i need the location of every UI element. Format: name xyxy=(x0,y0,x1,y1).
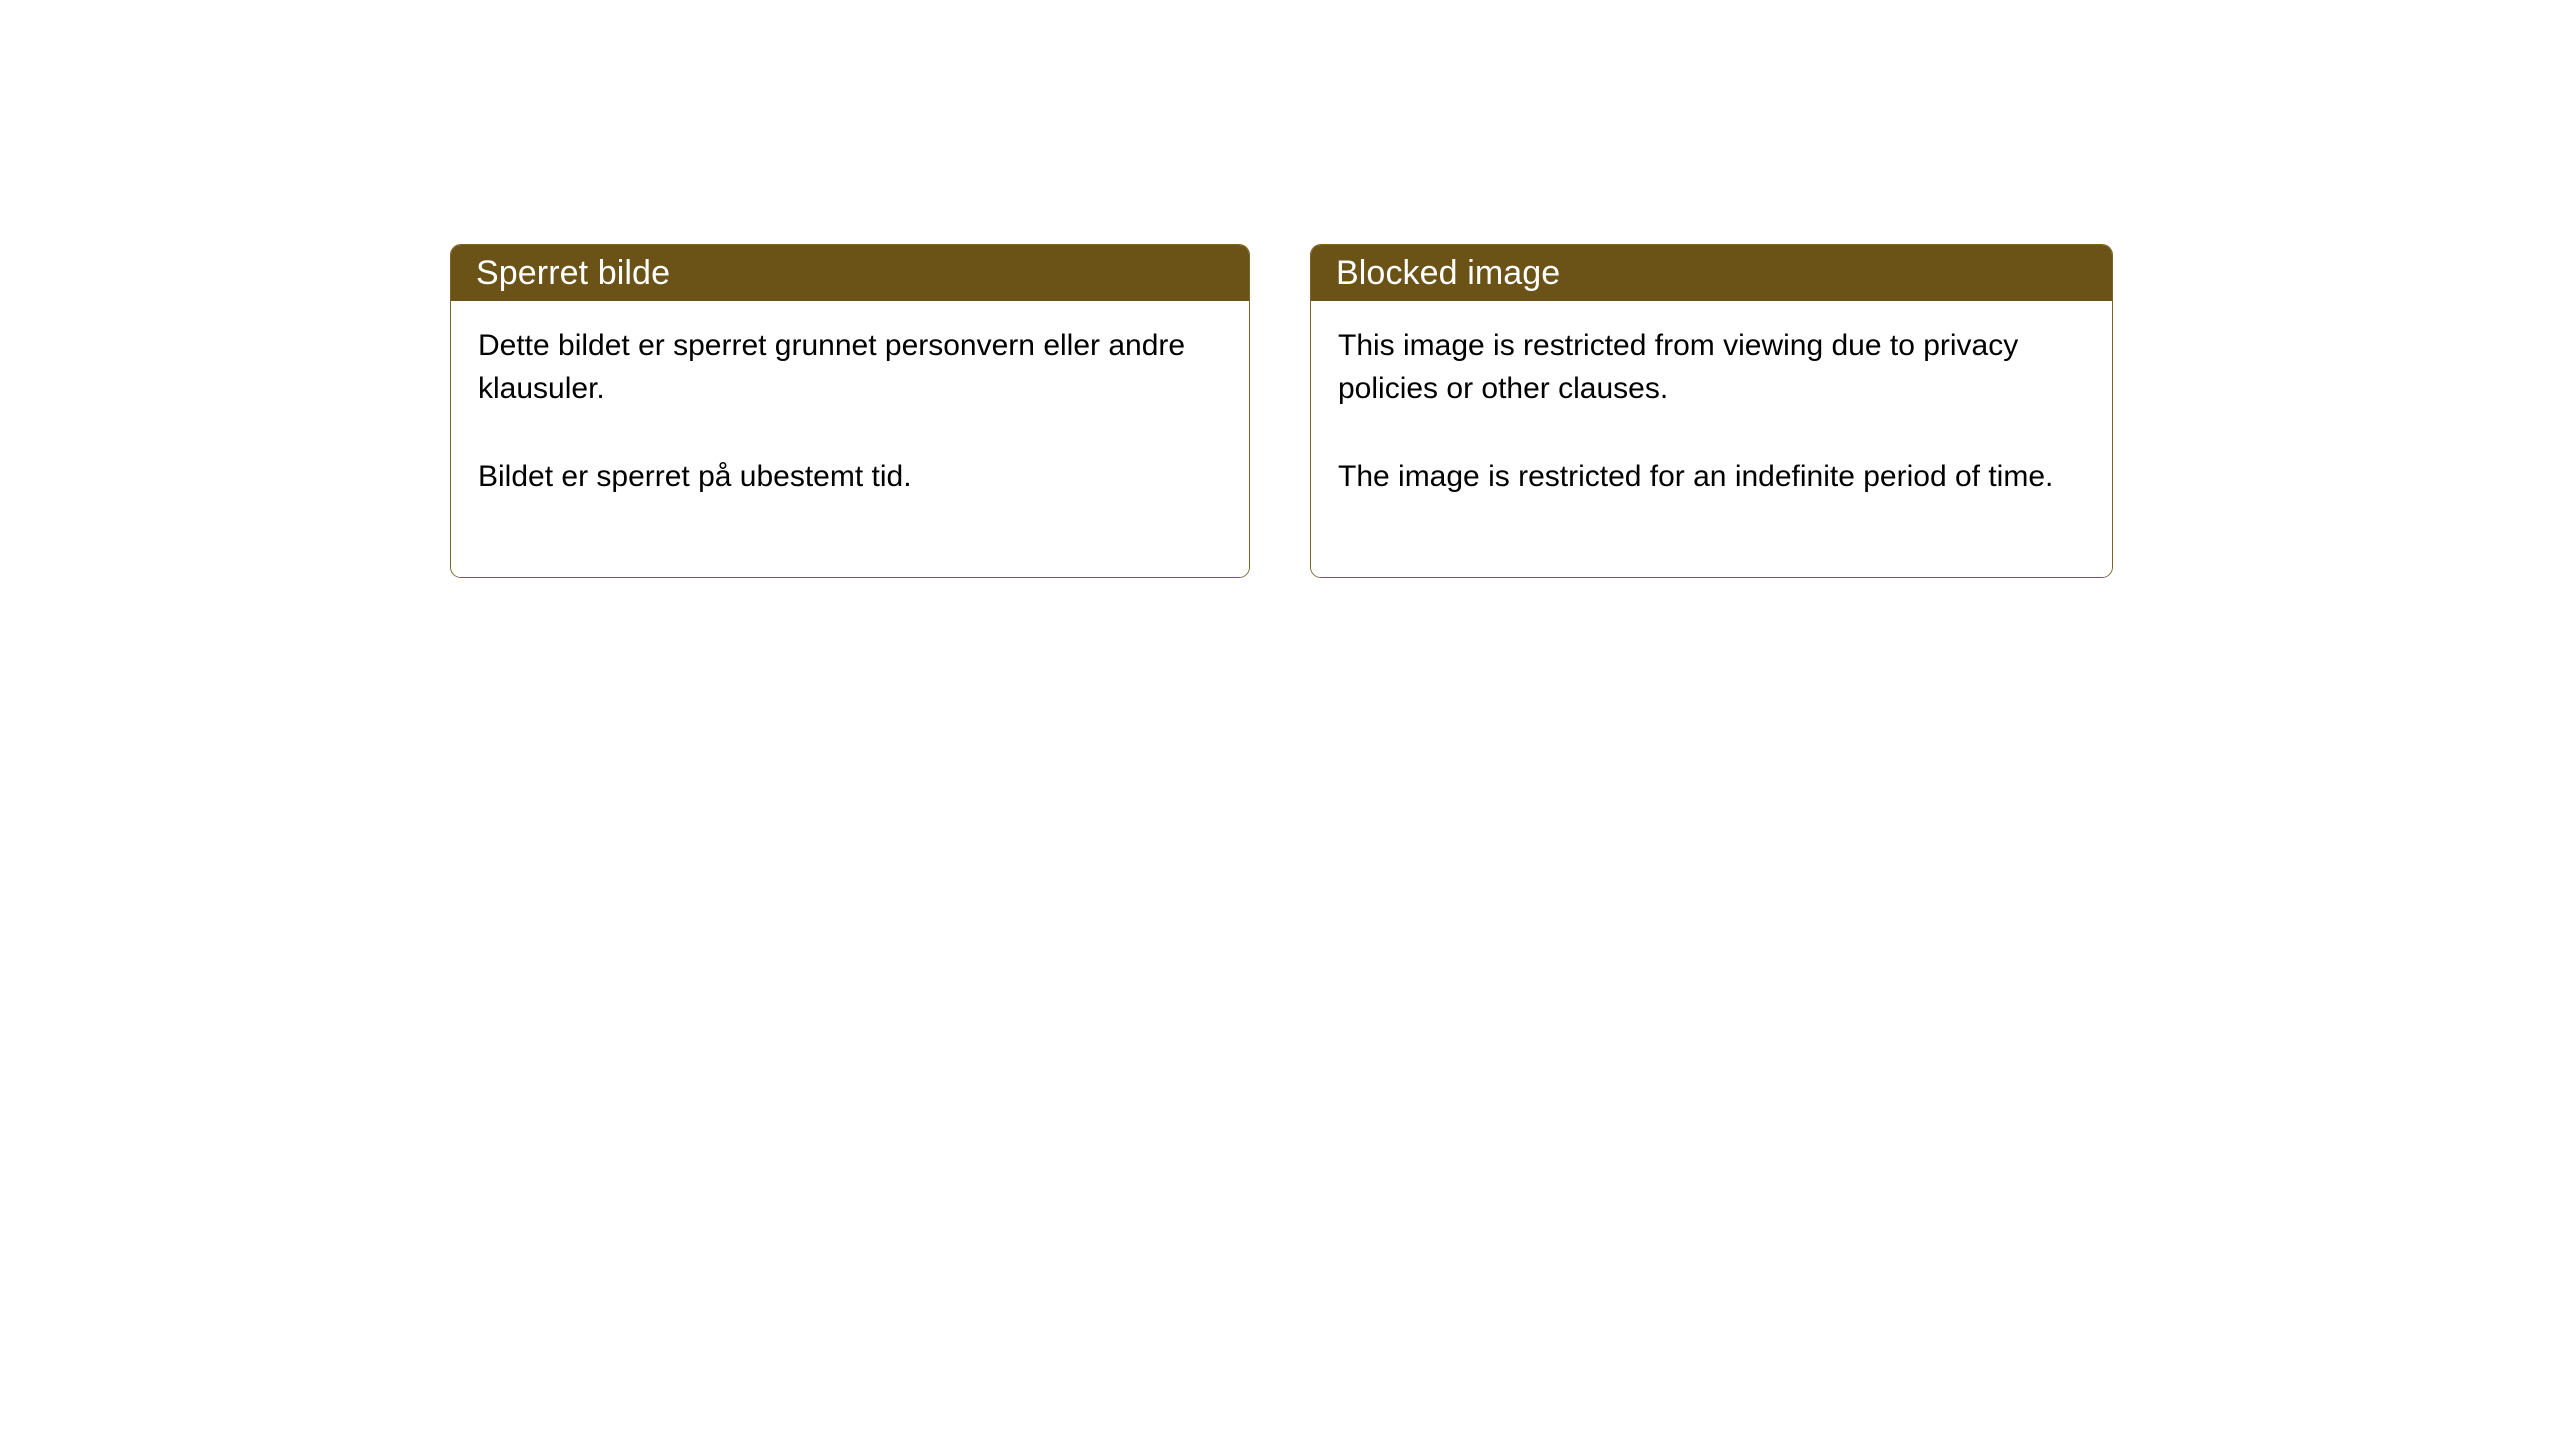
card-paragraph-duration-english: The image is restricted for an indefinit… xyxy=(1338,455,2082,498)
card-body-norwegian: Dette bildet er sperret grunnet personve… xyxy=(451,301,1249,577)
card-paragraph-reason-norwegian: Dette bildet er sperret grunnet personve… xyxy=(478,324,1219,410)
page-root: Sperret bilde Dette bildet er sperret gr… xyxy=(0,0,2560,1440)
card-title-english: Blocked image xyxy=(1336,253,1560,293)
blocked-image-notice-card-english: Blocked image This image is restricted f… xyxy=(1310,244,2113,578)
card-paragraph-duration-norwegian: Bildet er sperret på ubestemt tid. xyxy=(478,455,1219,498)
blocked-image-notice-card-norwegian: Sperret bilde Dette bildet er sperret gr… xyxy=(450,244,1250,578)
card-body-english: This image is restricted from viewing du… xyxy=(1311,301,2112,577)
card-header-norwegian: Sperret bilde xyxy=(450,244,1250,301)
card-paragraph-reason-english: This image is restricted from viewing du… xyxy=(1338,324,2082,410)
card-header-english: Blocked image xyxy=(1310,244,2113,301)
card-title-norwegian: Sperret bilde xyxy=(476,253,670,293)
notice-card-row: Sperret bilde Dette bildet er sperret gr… xyxy=(450,244,2113,578)
